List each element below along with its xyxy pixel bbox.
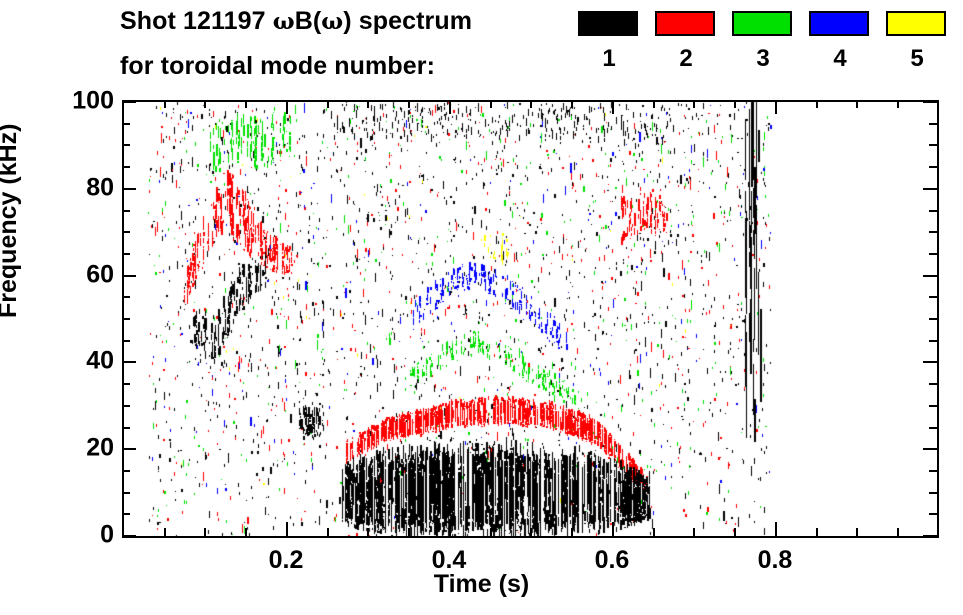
legend-item-5: 5 [886, 11, 948, 36]
title-spectrum-text: ) spectrum [343, 7, 472, 35]
y-tick-label-80: 80 [54, 173, 114, 202]
y-tick-right-10 [929, 492, 937, 494]
x-tick-0.8 [775, 522, 777, 536]
legend-item-1: 1 [578, 11, 640, 36]
y-tick-right-95 [929, 123, 937, 125]
x-tick-top-0.05 [164, 100, 166, 108]
y-tick-70 [122, 231, 130, 233]
x-tick-top-0.65 [653, 100, 655, 108]
y-tick-90 [122, 144, 130, 146]
x-tick-top-0.55 [571, 100, 573, 108]
x-tick-0.95 [897, 528, 899, 536]
y-tick-label-20: 20 [54, 434, 114, 463]
y-tick-right-0 [923, 535, 937, 537]
y-tick-right-90 [929, 144, 937, 146]
y-tick-right-50 [929, 318, 937, 320]
legend: 12345 [578, 11, 958, 91]
y-tick-45 [122, 340, 130, 342]
legend-item-4: 4 [809, 11, 871, 36]
y-tick-50 [122, 318, 130, 320]
spectrogram-canvas [124, 102, 937, 536]
y-tick-35 [122, 383, 130, 385]
y-tick-right-20 [923, 448, 937, 450]
y-tick-right-65 [929, 253, 937, 255]
y-tick-right-15 [929, 470, 937, 472]
y-tick-label-40: 40 [54, 347, 114, 376]
y-tick-75 [122, 210, 130, 212]
y-tick-25 [122, 427, 130, 429]
omega-symbol-1: ω [273, 8, 295, 35]
x-tick-top-0.7 [693, 100, 695, 108]
y-tick-65 [122, 253, 130, 255]
y-tick-55 [122, 296, 130, 298]
x-tick-top-0.35 [408, 100, 410, 108]
y-tick-right-25 [929, 427, 937, 429]
x-tick-0.3 [367, 528, 369, 536]
legend-label-5: 5 [886, 45, 948, 73]
x-tick-top-0.6 [612, 100, 614, 114]
x-tick-0.65 [653, 528, 655, 536]
x-tick-top-0.4 [449, 100, 451, 114]
y-tick-40 [122, 361, 136, 363]
legend-label-1: 1 [578, 45, 640, 73]
x-tick-top-0.75 [734, 100, 736, 108]
x-tick-0.05 [164, 528, 166, 536]
legend-label-4: 4 [809, 45, 871, 73]
x-tick-0.75 [734, 528, 736, 536]
legend-item-2: 2 [655, 11, 717, 36]
x-tick-top-0.15 [245, 100, 247, 108]
x-tick-top-0.5 [530, 100, 532, 108]
x-tick-0.85 [816, 528, 818, 536]
y-tick-85 [122, 166, 130, 168]
x-tick-0.25 [327, 528, 329, 536]
y-tick-right-75 [929, 210, 937, 212]
x-tick-0.9 [856, 528, 858, 536]
legend-swatch-4 [809, 11, 869, 36]
title-b-open: B( [295, 7, 322, 35]
y-axis-label: Frequency (kHz) [0, 124, 23, 318]
legend-swatch-3 [732, 11, 792, 36]
figure-root: Shot 121197 ωB(ω) spectrum for toroidal … [0, 0, 963, 615]
y-tick-5 [122, 513, 130, 515]
y-tick-95 [122, 123, 130, 125]
x-tick-top-0.1 [204, 100, 206, 108]
x-tick-0.45 [490, 528, 492, 536]
x-tick-top-0.9 [856, 100, 858, 108]
y-tick-right-100 [923, 101, 937, 103]
legend-label-3: 3 [732, 45, 794, 73]
y-tick-right-85 [929, 166, 937, 168]
y-tick-100 [122, 101, 136, 103]
x-tick-top-0.85 [816, 100, 818, 108]
y-tick-0 [122, 535, 136, 537]
x-tick-0.55 [571, 528, 573, 536]
x-tick-top-0.3 [367, 100, 369, 108]
x-tick-top-0.2 [286, 100, 288, 114]
y-tick-60 [122, 275, 136, 277]
y-tick-right-35 [929, 383, 937, 385]
chart-title-line-2: for toroidal mode number: [120, 52, 435, 81]
x-tick-0.4 [449, 522, 451, 536]
legend-swatch-2 [655, 11, 715, 36]
y-tick-20 [122, 448, 136, 450]
x-tick-0.6 [612, 522, 614, 536]
y-tick-right-30 [929, 405, 937, 407]
x-axis-label: Time (s) [0, 570, 963, 599]
y-tick-label-100: 100 [54, 87, 114, 116]
x-tick-0.1 [204, 528, 206, 536]
chart-title-line-1: Shot 121197 ωB(ω) spectrum [120, 7, 472, 36]
x-tick-top-0.45 [490, 100, 492, 108]
x-tick-0.5 [530, 528, 532, 536]
y-tick-10 [122, 492, 130, 494]
y-tick-right-80 [923, 188, 937, 190]
legend-item-3: 3 [732, 11, 794, 36]
y-tick-right-45 [929, 340, 937, 342]
y-tick-label-60: 60 [54, 260, 114, 289]
y-tick-label-0: 0 [54, 521, 114, 550]
y-tick-right-5 [929, 513, 937, 515]
x-tick-0.2 [286, 522, 288, 536]
legend-label-2: 2 [655, 45, 717, 73]
x-tick-0.15 [245, 528, 247, 536]
y-tick-right-55 [929, 296, 937, 298]
y-tick-right-70 [929, 231, 937, 233]
x-tick-top-0.25 [327, 100, 329, 108]
legend-swatch-1 [578, 11, 638, 36]
y-tick-80 [122, 188, 136, 190]
y-tick-15 [122, 470, 130, 472]
legend-swatch-5 [886, 11, 946, 36]
y-tick-right-40 [923, 361, 937, 363]
x-tick-top-0.95 [897, 100, 899, 108]
x-tick-0.35 [408, 528, 410, 536]
plot-frame [122, 100, 939, 538]
x-tick-top-0.8 [775, 100, 777, 114]
omega-symbol-2: ω [321, 8, 343, 35]
x-tick-0.7 [693, 528, 695, 536]
y-tick-30 [122, 405, 130, 407]
title-shot-text: Shot 121197 [120, 7, 273, 35]
y-tick-right-60 [923, 275, 937, 277]
